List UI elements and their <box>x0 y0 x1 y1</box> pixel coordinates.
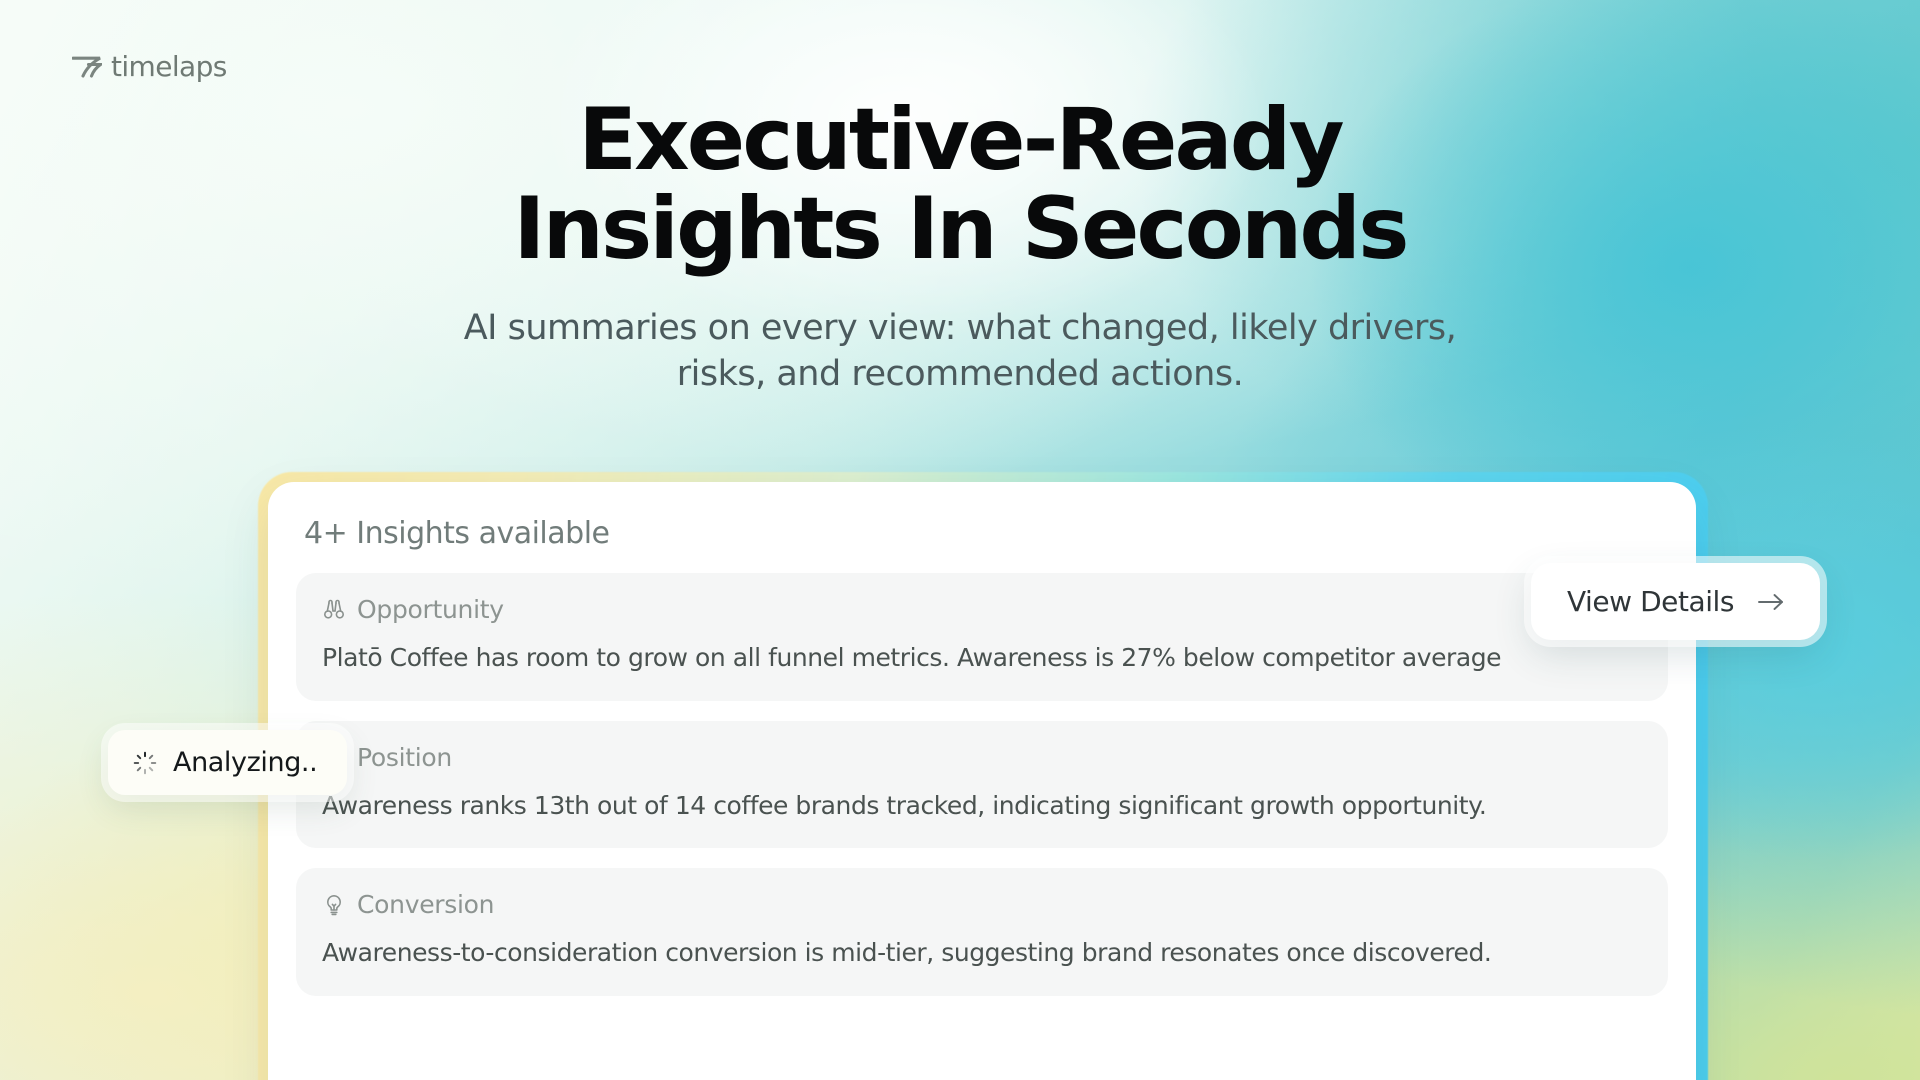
status-label: Analyzing.. <box>173 747 317 778</box>
status-badge: Analyzing.. <box>108 730 347 795</box>
view-details-button[interactable]: View Details <box>1531 563 1820 640</box>
hero-title-line-1: Executive-Ready <box>578 90 1342 190</box>
hero-subtitle: AI summaries on every view: what changed… <box>430 305 1490 398</box>
insights-count-label: 4+ Insights available <box>304 516 1660 551</box>
insight-category-label: Position <box>357 743 452 772</box>
page-title: Executive-Ready Insights In Seconds <box>0 96 1920 275</box>
insight-body-text: Awareness-to-consideration conversion is… <box>322 937 1642 970</box>
insight-category-label: Conversion <box>357 890 494 919</box>
lightbulb-icon <box>322 893 346 917</box>
insight-body-text: Platō Coffee has room to grow on all fun… <box>322 642 1642 675</box>
insight-category-label: Opportunity <box>357 595 504 624</box>
insight-header: Position <box>322 743 1642 772</box>
insight-header: Opportunity <box>322 595 1642 624</box>
hero-section: Executive-Ready Insights In Seconds AI s… <box>0 96 1920 398</box>
binoculars-icon <box>322 598 346 622</box>
hero-title-line-2: Insights In Seconds <box>513 179 1406 279</box>
panel-header: 4+ Insights available <box>268 482 1696 557</box>
view-details-label: View Details <box>1567 585 1734 618</box>
insight-header: Conversion <box>322 890 1642 919</box>
insights-panel: 4+ Insights available <box>268 482 1696 1080</box>
arrow-right-icon <box>1756 591 1786 613</box>
spinner-icon <box>132 750 158 776</box>
insights-list: Opportunity Platō Coffee has room to gro… <box>268 557 1696 996</box>
insight-body-text: Awareness ranks 13th out of 14 coffee br… <box>322 790 1642 823</box>
timelaps-mark-icon <box>72 55 102 79</box>
brand-logo[interactable]: timelaps <box>72 50 227 83</box>
list-item[interactable]: Opportunity Platō Coffee has room to gro… <box>296 573 1668 701</box>
insights-panel-wrapper: 4+ Insights available <box>268 482 1696 1080</box>
brand-name: timelaps <box>111 50 227 83</box>
list-item[interactable]: Position Awareness ranks 13th out of 14 … <box>296 721 1668 849</box>
list-item[interactable]: Conversion Awareness-to-consideration co… <box>296 868 1668 996</box>
